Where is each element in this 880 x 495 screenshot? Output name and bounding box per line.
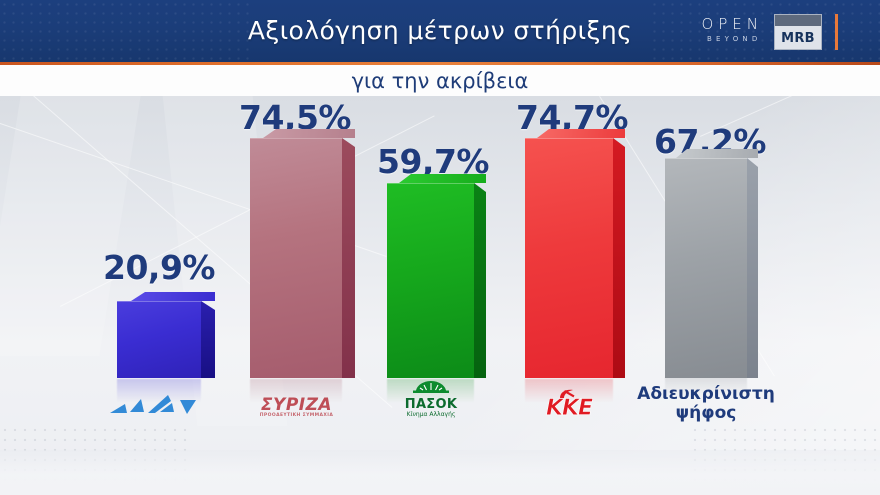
open-logo-tagline: BEYOND xyxy=(701,34,763,45)
bar-top-face-undecided xyxy=(676,149,758,158)
bar-column-nd xyxy=(117,292,215,378)
party-logo-pasok: ΠΑΣΟΚ Κίνημα Αλλαγής xyxy=(383,379,479,419)
bars-plot: 20,9% 74,5% xyxy=(0,96,880,495)
bar-top-face-nd xyxy=(131,292,215,301)
mrb-logo-text: MRB xyxy=(775,28,821,49)
bar-column-kke xyxy=(525,129,625,378)
bar-side-face-pasok xyxy=(474,183,486,378)
bar-top-face-syriza xyxy=(263,129,355,138)
bar-column-pasok xyxy=(387,174,486,378)
chart-area: 20,9% 74,5% xyxy=(0,96,880,495)
syriza-logo-name: ΣΥΡΙΖΑ xyxy=(244,397,349,413)
poll-graphic: Αξιολόγηση μέτρων στήριξης OPEN BEYOND M… xyxy=(0,0,880,495)
header-bar: Αξιολόγηση μέτρων στήριξης OPEN BEYOND M… xyxy=(0,0,880,62)
bar-front-face-pasok xyxy=(387,183,474,378)
mrb-logo: MRB xyxy=(774,14,822,50)
subtitle-strip: για την ακρίβεια xyxy=(0,65,880,96)
bar-label-undecided: Αδιευκρίνιστη ψήφος xyxy=(596,385,816,423)
open-beyond-logo: OPEN BEYOND xyxy=(701,16,763,45)
bar-side-face-nd xyxy=(201,301,215,378)
open-logo-word: OPEN xyxy=(701,16,763,32)
bar-value-nd: 20,9% xyxy=(49,248,269,287)
pasok-sun-icon xyxy=(409,379,453,394)
party-logo-nd xyxy=(108,391,210,417)
bar-side-face-undecided xyxy=(747,158,758,378)
pasok-logo-name: ΠΑΣΟΚ xyxy=(383,398,479,411)
bar-top-face-pasok xyxy=(399,174,486,183)
header-orange-tick xyxy=(835,14,838,50)
bar-side-face-kke xyxy=(613,138,625,378)
bar-label-undecided-line2: ψήφος xyxy=(596,404,816,423)
mrb-logo-cap xyxy=(775,15,821,28)
party-logo-syriza: ΣΥΡΙΖΑ ΠΡΟΟΔΕΥΤΙΚΗ ΣΥΜΜΑΧΙΑ xyxy=(244,397,349,419)
bar-front-face-undecided xyxy=(665,158,747,378)
syriza-logo-block: ΣΥΡΙΖΑ ΠΡΟΟΔΕΥΤΙΚΗ ΣΥΜΜΑΧΙΑ xyxy=(244,397,349,419)
bar-front-face-nd xyxy=(117,301,201,378)
bar-front-face-kke xyxy=(525,138,613,378)
syriza-logo-sub: ΠΡΟΟΔΕΥΤΙΚΗ ΣΥΜΜΑΧΙΑ xyxy=(244,413,349,419)
bar-column-undecided xyxy=(665,149,758,378)
bar-label-undecided-line1: Αδιευκρίνιστη xyxy=(596,385,816,404)
pasok-logo-sub: Κίνημα Αλλαγής xyxy=(383,411,479,419)
page-subtitle: για την ακρίβεια xyxy=(0,65,880,96)
footer-band xyxy=(0,450,880,495)
nd-flame-icon xyxy=(108,391,208,417)
pasok-logo-block: ΠΑΣΟΚ Κίνημα Αλλαγής xyxy=(383,379,479,419)
